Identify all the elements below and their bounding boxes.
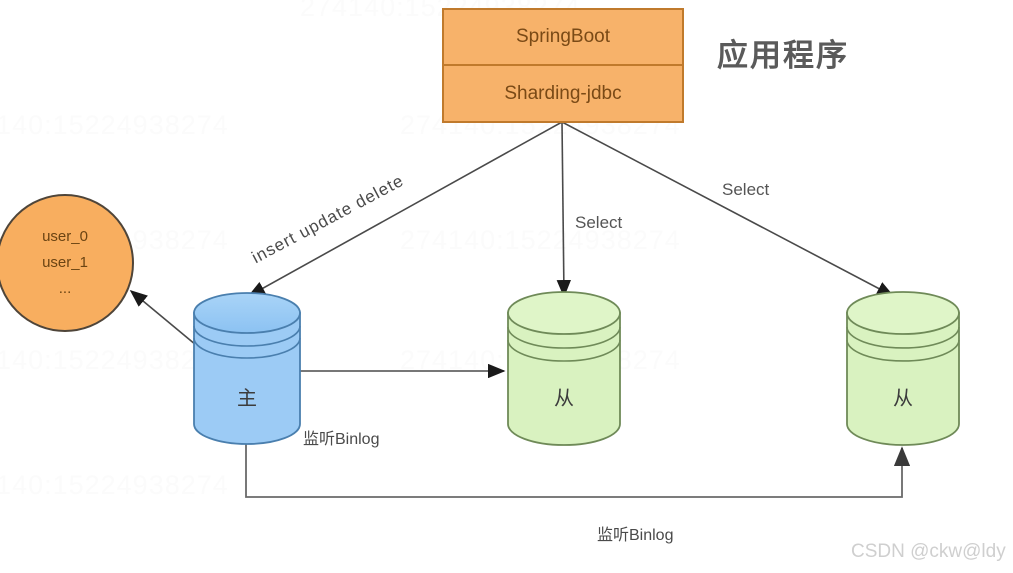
edge-binlog-master-to-slave-2 xyxy=(246,442,902,497)
database-label-slave-2: 从 xyxy=(847,382,959,411)
database-label-slave-1: 从 xyxy=(508,382,620,411)
app-box-springboot-label: SpringBoot xyxy=(443,26,683,48)
edge-label-binlog-bottom: 监听Binlog xyxy=(597,521,673,545)
shard-circle-label-user-1: user_1 xyxy=(0,254,130,271)
csdn-watermark: CSDN @ckw@ldy xyxy=(851,541,1006,563)
page-title: 应用程序 xyxy=(717,30,849,75)
edge-select-to-slave-1 xyxy=(562,122,564,296)
database-cylinder-slave-2[interactable] xyxy=(847,292,959,445)
diagram-canvas: 274140:15224938274 274140:15224938274 27… xyxy=(0,0,1013,573)
edge-select-to-slave-2 xyxy=(562,122,893,296)
app-box-sharding-jdbc-label: Sharding-jdbc xyxy=(443,83,683,105)
edge-write-to-master xyxy=(249,122,562,296)
edge-label-select-center: Select xyxy=(575,213,622,233)
edge-master-to-shard-circle xyxy=(131,291,196,345)
edge-label-binlog-master: 监听Binlog xyxy=(303,425,379,449)
database-label-master: 主 xyxy=(194,382,300,411)
database-cylinder-master[interactable] xyxy=(194,293,300,444)
shard-circle-label-ellipsis: ... xyxy=(0,280,130,297)
shard-circle-label-user-0: user_0 xyxy=(0,228,130,245)
database-cylinder-slave-1[interactable] xyxy=(508,292,620,445)
edge-label-select-right: Select xyxy=(722,180,769,200)
